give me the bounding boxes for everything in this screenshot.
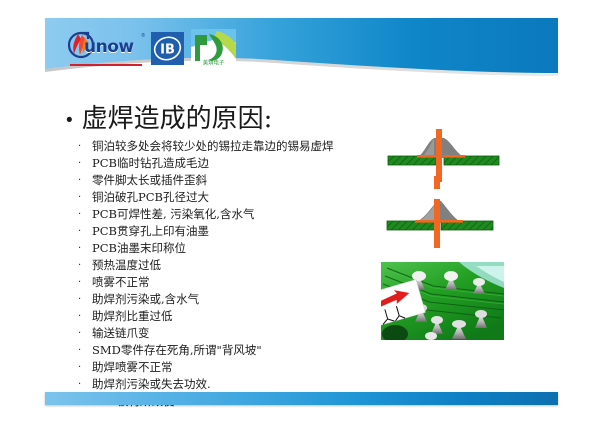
- list-item: ·SMD零件存在死角,所谓"背风坡": [78, 342, 368, 358]
- list-item-label: 铜泊较多处会将较少处的锡拉走靠边的锡易虚焊: [92, 138, 334, 154]
- list-item: ·喷雾不正常: [78, 274, 368, 290]
- bullet-glyph: ·: [78, 309, 92, 325]
- list-item-label: 助焊剂比重过低: [92, 308, 173, 324]
- bullet-glyph: ·: [78, 343, 92, 359]
- list-item-label: 助焊喷雾不正常: [92, 359, 173, 375]
- list-item: ·预热温度过低: [78, 257, 368, 273]
- bullet-glyph: ·: [78, 207, 92, 223]
- list-item: ·铜泊较多处会将较少处的锡拉走靠边的锡易虚焊: [78, 138, 368, 154]
- slide-canvas: unow ® IB 美琪电子 •: [0, 0, 600, 424]
- slide-title-text: 虚焊造成的原因:: [82, 104, 273, 134]
- green-logo-text: 美琪电子: [203, 59, 225, 67]
- solder-joint-diagram-2-svg: [381, 176, 513, 248]
- bullet-glyph: ·: [78, 190, 92, 206]
- sunow-logo: unow ®: [68, 28, 144, 68]
- list-item-label: PCB油墨末印称位: [92, 240, 186, 256]
- list-item-label: 铜泊破孔PCB孔径过大: [92, 189, 209, 205]
- bullet-glyph: ·: [78, 275, 92, 291]
- list-item: ·助焊剂污染或失去功效.: [78, 376, 368, 392]
- list-item: ·输送链爪变: [78, 325, 368, 341]
- green-logo-mark: 美琪电子: [191, 29, 236, 67]
- footer-bar: [45, 392, 558, 405]
- slide-title: • 虚焊造成的原因:: [66, 104, 366, 134]
- list-item: ·铜泊破孔PCB孔径过大: [78, 189, 368, 205]
- green-logo: 美琪电子: [191, 29, 236, 67]
- header-logo-group: unow ® IB 美琪电子: [68, 26, 236, 70]
- title-bullet-glyph: •: [66, 111, 73, 130]
- ib-logo: IB: [151, 32, 184, 65]
- list-item-label: 助焊剂污染或失去功效.: [92, 376, 211, 392]
- list-item-label: PCB临时钻孔造成毛边: [92, 155, 209, 171]
- list-item: ·助焊喷雾不正常: [78, 359, 368, 375]
- list-item: ·PCB可焊性差, 污染氧化,含水气: [78, 206, 368, 222]
- solder-joint-diagram-1-svg: [381, 126, 513, 182]
- list-item: ·助焊剂比重过低: [78, 308, 368, 324]
- sunow-wordmark: unow: [84, 37, 134, 57]
- bullet-glyph: ·: [78, 139, 92, 155]
- list-item: ·零件脚太长或插件歪斜: [78, 172, 368, 188]
- bullet-glyph: ·: [78, 241, 92, 257]
- bullet-glyph: ·: [78, 156, 92, 172]
- pcb-solder-photo-svg: [381, 262, 504, 340]
- solder-joint-diagram-2: [381, 176, 513, 248]
- list-item-label: SMD零件存在死角,所谓"背风坡": [92, 342, 262, 358]
- list-item: ·PCB油墨末印称位: [78, 240, 368, 256]
- list-item: ·PCB贯穿孔上印有油墨: [78, 223, 368, 239]
- ib-logo-mark: IB: [151, 32, 184, 65]
- bullet-glyph: ·: [78, 326, 92, 342]
- list-item-label: 输送链爪变: [92, 325, 150, 341]
- svg-text:IB: IB: [160, 42, 175, 57]
- list-item-label: PCB贯穿孔上印有油墨: [92, 223, 209, 239]
- bullet-glyph: ·: [78, 173, 92, 189]
- list-item-label: 预热温度过低: [92, 257, 161, 273]
- list-item-label: 零件脚太长或插件歪斜: [92, 172, 207, 188]
- sunow-underline: [70, 64, 142, 66]
- bullet-glyph: ·: [78, 258, 92, 274]
- bullet-glyph: ·: [78, 224, 92, 240]
- list-item-label: 喷雾不正常: [92, 274, 150, 290]
- pcb-solder-photo: [381, 262, 504, 340]
- bullet-glyph: ·: [78, 292, 92, 308]
- solder-joint-diagram-1: [381, 126, 513, 182]
- list-item: ·助焊剂污染或,含水气: [78, 291, 368, 307]
- list-item: ·PCB临时钻孔造成毛边: [78, 155, 368, 171]
- bullet-list: ·铜泊较多处会将较少处的锡拉走靠边的锡易虚焊 ·PCB临时钻孔造成毛边 ·零件脚…: [78, 138, 368, 410]
- registered-mark: ®: [141, 33, 145, 39]
- bullet-glyph: ·: [78, 360, 92, 376]
- bullet-glyph: ·: [78, 377, 92, 393]
- list-item-label: 助焊剂污染或,含水气: [92, 291, 199, 307]
- list-item-label: PCB可焊性差, 污染氧化,含水气: [92, 206, 254, 222]
